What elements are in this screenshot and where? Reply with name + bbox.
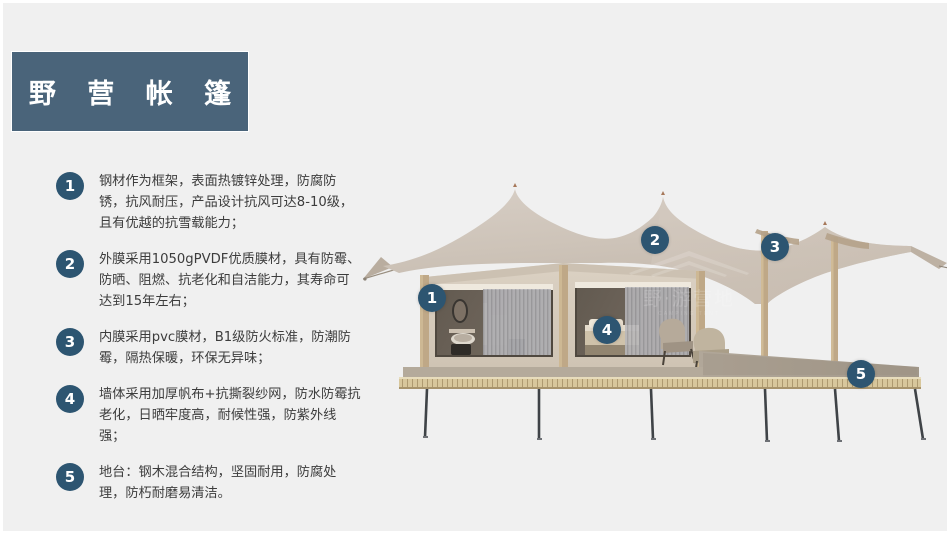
feature-badge-2: 2 (56, 250, 84, 278)
image-badge-4: 4 (593, 316, 621, 344)
list-item: 3 内膜采用pvc膜材，B1级防火标准，防潮防霉，隔热保暖，环保无异味； (56, 327, 376, 369)
list-item: 2 外膜采用1050gPVDF优质膜材，具有防霉、防晒、阻燃、抗老化和自洁能力，… (56, 249, 376, 312)
tent-illustration (363, 153, 950, 443)
feature-text-3: 内膜采用pvc膜材，B1级防火标准，防潮防霉，隔热保暖，环保无异味； (99, 327, 361, 369)
list-item: 5 地台：钢木混合结构，坚固耐用，防腐处理，防朽耐磨易清洁。 (56, 462, 376, 504)
feature-text-4: 墙体采用加厚帆布+抗撕裂纱网，防水防霉抗老化，日晒牢度高，耐候性强，防紫外线强； (99, 384, 361, 447)
list-item: 1 钢材作为框架，表面热镀锌处理，防腐防锈，抗风耐压，产品设计抗风可达8-10级… (56, 171, 376, 234)
page-title-block: 野 营 帐 篷 (11, 51, 249, 132)
image-badge-3: 3 (761, 233, 789, 261)
feature-badge-5: 5 (56, 463, 84, 491)
list-item: 4 墙体采用加厚帆布+抗撕裂纱网，防水防霉抗老化，日晒牢度高，耐候性强，防紫外线… (56, 384, 376, 447)
feature-list: 1 钢材作为框架，表面热镀锌处理，防腐防锈，抗风耐压，产品设计抗风可达8-10级… (56, 171, 376, 519)
slide-canvas: 野 营 帐 篷 1 钢材作为框架，表面热镀锌处理，防腐防锈，抗风耐压，产品设计抗… (0, 0, 950, 534)
feature-text-2: 外膜采用1050gPVDF优质膜材，具有防霉、防晒、阻燃、抗老化和自洁能力，其寿… (99, 249, 361, 312)
feature-text-5: 地台：钢木混合结构，坚固耐用，防腐处理，防朽耐磨易清洁。 (99, 462, 361, 504)
page-title: 野 营 帐 篷 (18, 72, 242, 111)
image-badge-1: 1 (418, 284, 446, 312)
feature-badge-3: 3 (56, 328, 84, 356)
feature-text-1: 钢材作为框架，表面热镀锌处理，防腐防锈，抗风耐压，产品设计抗风可达8-10级，且… (99, 171, 361, 234)
feature-badge-1: 1 (56, 172, 84, 200)
feature-badge-4: 4 (56, 385, 84, 413)
image-badge-2: 2 (641, 226, 669, 254)
image-badge-5: 5 (847, 360, 875, 388)
